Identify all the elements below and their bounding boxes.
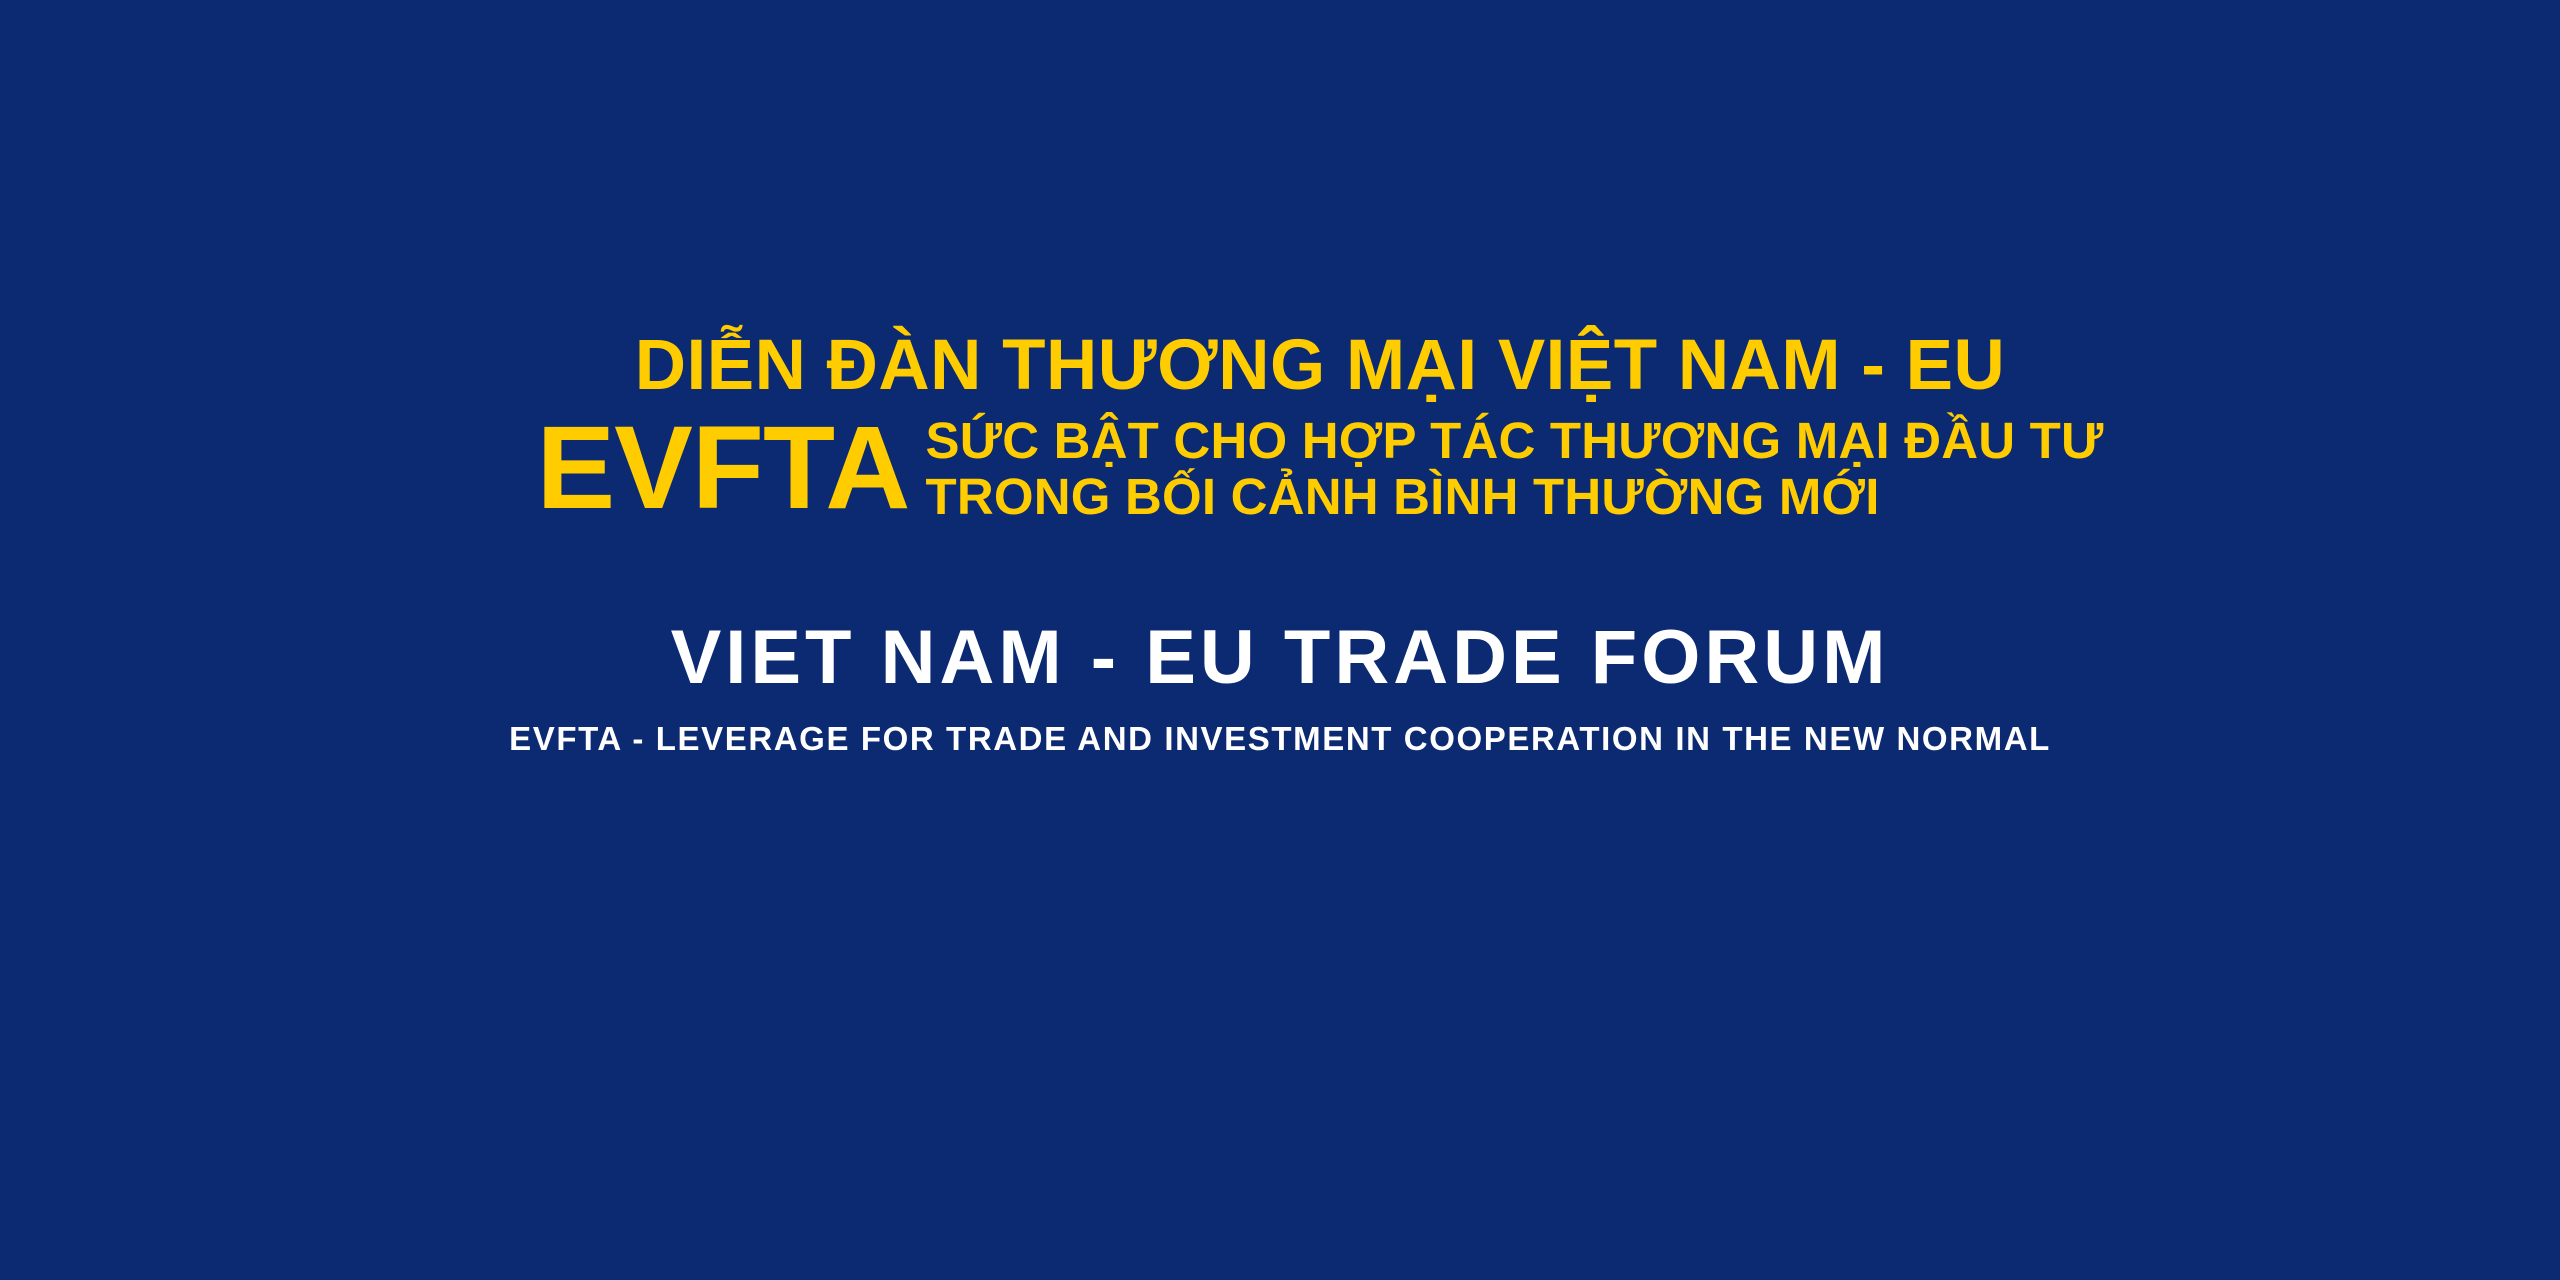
banner-acronym: EVFTA	[536, 414, 909, 523]
english-title: VIET NAM - EU TRADE FORUM	[0, 618, 2560, 698]
english-subtitle: EVFTA - LEVERAGE FOR TRADE AND INVESTMEN…	[0, 720, 2560, 758]
banner-title-vi: DIỄN ĐÀN THƯƠNG MẠI VIỆT NAM - EU	[540, 330, 2100, 401]
banner-tagline-line1: SỨC BẬT CHO HỢP TÁC THƯƠNG MẠI ĐẦU TƯ	[926, 413, 2104, 468]
banner-acronym-row: EVFTA SỨC BẬT CHO HỢP TÁC THƯƠNG MẠI ĐẦU…	[540, 413, 2100, 523]
english-title-group: VIET NAM - EU TRADE FORUM EVFTA - LEVERA…	[0, 618, 2560, 758]
banner-text-group: DIỄN ĐÀN THƯƠNG MẠI VIỆT NAM - EU EVFTA …	[540, 262, 2100, 592]
event-banner-poster: BỘ CÔNG THƯƠNG MINISTRY OF INDUSTRY AND …	[0, 0, 2560, 1280]
banner-tagline-line2: TRONG BỐI CẢNH BÌNH THƯỜNG MỚI	[926, 469, 2104, 524]
banner-tagline-group: SỨC BẬT CHO HỢP TÁC THƯƠNG MẠI ĐẦU TƯ TR…	[926, 413, 2104, 523]
